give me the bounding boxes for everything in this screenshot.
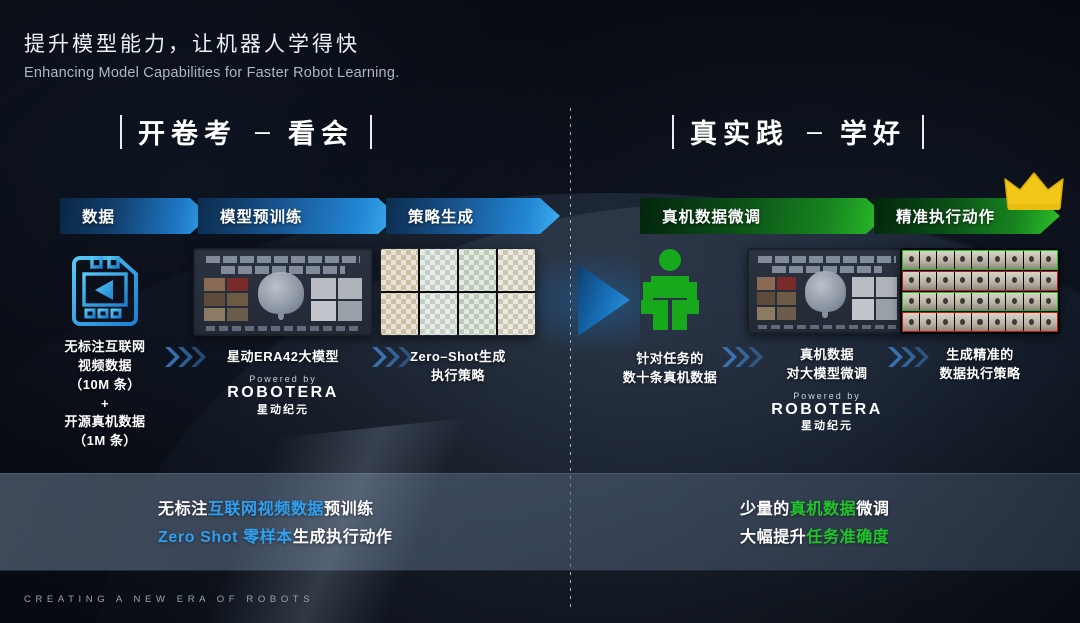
results-frame [903,293,919,311]
results-frame [937,293,953,311]
results-frame [955,251,971,269]
brain-diagram-icon-2 [805,271,846,312]
flow-left-data-line1: 无标注互联网 [40,338,170,357]
results-frame [903,251,919,269]
thumb-footer-text [206,326,361,330]
flow-left-pretrain-line1: 星动ERA42大模型 [192,348,374,367]
summary-right-line-1: 少量的真机数据微调 [740,496,889,524]
results-frame [989,251,1005,269]
results-frame [972,272,988,290]
section-left-dash: – [253,116,272,147]
robotera-brand-right: ROBOTERA [742,401,912,419]
summary-panel: 无标注互联网视频数据预训练Zero Shot 零样本生成执行动作 少量的真机数据… [0,473,1080,571]
summary-right-line-1-seg-2: 真机数据 [790,501,856,518]
flow-right-robot-line2: 数十条真机数据 [608,369,732,388]
slide-canvas: 提升模型能力，让机器人学得快 Enhancing Model Capabilit… [0,0,1080,623]
section-left-accent: 看会 [288,112,354,151]
flow-col-left-pretrain[interactable]: 星动ERA42大模型 Powered by ROBOTERA 星动纪元 [192,248,374,416]
section-right-main: 真实践 [690,112,789,151]
summary-left-line-2-seg-1: Zero Shot 零样本 [158,529,293,546]
results-frame [955,272,971,290]
results-frame [1006,272,1022,290]
banner-step-policy-label: 策略生成 [408,205,474,227]
flow-col-left-data[interactable]: 无标注互联网 视频数据 （10M 条） + 开源真机数据 （1M 条） [40,248,170,451]
powered-by-block-right: Powered by ROBOTERA 星动纪元 [742,391,912,433]
finetune-slide-thumbnail [747,248,907,334]
summary-left-line-2-seg-2: 生成执行动作 [293,529,393,546]
results-frame [920,293,936,311]
section-right-accent: 学好 [840,112,906,151]
thumb2-photo-grid-left [757,277,796,320]
results-frame [1006,251,1022,269]
flow-right-results-line1: 生成精准的 [898,346,1062,365]
summary-right-line-2: 大幅提升任务准确度 [740,524,889,552]
banner-step-data[interactable]: 数据 [60,198,210,234]
flow-left-zeroshot-line1: Zero–Shot生成 [378,348,538,367]
thumb-photo-grid-left [204,278,248,322]
results-frame [955,293,971,311]
robotera-brand-zh-left: 星动纪元 [192,404,374,417]
robot-icon [637,248,703,334]
header-title-en: Enhancing Model Capabilities for Faster … [24,65,399,81]
summary-right-line-2-seg-1: 大幅提升 [740,529,806,546]
results-frame [937,272,953,290]
results-frame [1041,313,1057,331]
results-frame [1024,313,1040,331]
flow-left-data-line3: （10M 条） [40,376,170,395]
summary-left-line-1: 无标注互联网视频数据预训练 [158,496,393,524]
flow-left-zeroshot-line2: 执行策略 [378,367,538,386]
results-frame [1041,251,1057,269]
title-bar-right-end [922,115,924,149]
thumb2-title-line-1 [758,256,895,263]
results-row [902,312,1058,332]
banner-step-execution[interactable]: 精准执行动作 [874,198,1060,234]
results-frame [1006,313,1022,331]
powered-by-block-left: Powered by ROBOTERA 星动纪元 [192,374,374,416]
flow-col-right-results[interactable]: 生成精准的 数据执行策略 [898,248,1062,384]
banner-step-pretrain[interactable]: 模型预训练 [198,198,398,234]
results-frame [1024,293,1040,311]
results-frame [920,251,936,269]
results-frame [903,272,919,290]
results-frame [989,293,1005,311]
pipeline-banner-right: 真机数据微调 精准执行动作 [640,198,1060,234]
summary-left-line-1-seg-1: 无标注 [158,501,208,518]
robotera-brand-left: ROBOTERA [192,384,374,402]
results-frame [972,313,988,331]
flow-left-data-line4: + [40,395,170,414]
summary-right-line-2-seg-2: 任务准确度 [806,529,889,546]
section-left-main: 开卷考 [138,112,237,151]
thumb-title-line-1 [206,256,361,264]
header-title-zh: 提升模型能力，让机器人学得快 [24,28,399,58]
results-row [902,292,1058,312]
zeroshot-photo-grid [380,248,536,336]
section-title-right: 真实践 – 学好 [672,112,924,151]
results-frame [989,313,1005,331]
summary-right: 少量的真机数据微调大幅提升任务准确度 [740,496,889,551]
pipeline-banner-left: 数据 模型预训练 策略生成 [60,198,560,234]
banner-step-execution-label: 精准执行动作 [896,205,995,227]
banner-step-data-label: 数据 [82,205,115,227]
flow-right-robot-line1: 针对任务的 [608,350,732,369]
flow-left-data-line5: 开源真机数据 [40,413,170,432]
summary-left-line-1-seg-2: 互联网视频数据 [208,501,324,518]
pretrain-slide-thumbnail [193,248,373,336]
summary-right-line-1-seg-1: 少量的 [740,501,790,518]
video-data-icon [68,250,142,326]
brain-diagram-icon [258,272,304,314]
summary-left: 无标注互联网视频数据预训练Zero Shot 零样本生成执行动作 [158,496,393,551]
flow-col-left-zeroshot[interactable]: Zero–Shot生成 执行策略 [378,248,538,386]
powered-by-label-right: Powered by [742,391,912,401]
summary-left-line-1-seg-3: 预训练 [324,501,374,518]
thumb2-photo-grid-right [852,277,897,320]
results-frame [972,251,988,269]
slide-header: 提升模型能力，让机器人学得快 Enhancing Model Capabilit… [24,28,399,81]
title-bar-right [672,115,674,149]
results-frame [920,313,936,331]
results-frame [920,272,936,290]
powered-by-label-left: Powered by [192,374,374,384]
summary-left-line-2: Zero Shot 零样本生成执行动作 [158,524,393,552]
results-frame [903,313,919,331]
banner-step-pretrain-label: 模型预训练 [220,205,303,227]
summary-right-line-1-seg-3: 微调 [856,501,889,518]
title-bar-left [120,115,122,149]
results-frame [937,313,953,331]
flow-col-right-finetune[interactable]: 真机数据 对大模型微调 Powered by ROBOTERA 星动纪元 [742,248,912,433]
results-row [902,271,1058,291]
flow-left-data-line2: 视频数据 [40,357,170,376]
section-right-dash: – [805,116,824,147]
brand-tagline: CREATING A NEW ERA OF ROBOTS [24,594,314,605]
results-row [902,250,1058,270]
results-frame [937,251,953,269]
flow-col-right-robot[interactable]: 针对任务的 数十条真机数据 [608,248,732,388]
flow-left-data-line6: （1M 条） [40,432,170,451]
thumb2-footer-text [758,325,895,329]
banner-step-finetune[interactable]: 真机数据微调 [640,198,886,234]
title-bar-left-end [370,115,372,149]
results-frame [1041,272,1057,290]
results-frame [972,293,988,311]
robotera-brand-zh-right: 星动纪元 [742,420,912,433]
results-frame [1006,293,1022,311]
banner-step-policy[interactable]: 策略生成 [386,198,560,234]
results-dense-grid [900,248,1060,334]
section-title-left: 开卷考 – 看会 [120,112,372,151]
results-frame [989,272,1005,290]
flow-right-results-line2: 数据执行策略 [898,365,1062,384]
results-frame [1024,272,1040,290]
banner-step-finetune-label: 真机数据微调 [662,205,761,227]
results-frame [1041,293,1057,311]
results-frame [955,313,971,331]
results-frame [1024,251,1040,269]
thumb-photo-grid-right [311,278,362,322]
